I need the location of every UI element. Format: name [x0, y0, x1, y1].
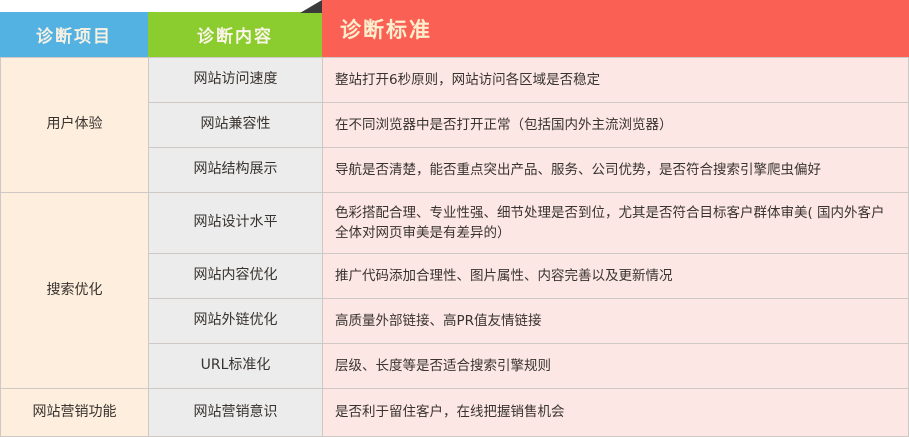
table-body: 用户体验 网站访问速度 整站打开6秒原则，网站访问各区域是否稳定 网站兼容性 在… [1, 58, 909, 437]
item-label: 网站营销意识 [149, 399, 322, 427]
item-cell: 网站结构展示 [149, 148, 323, 193]
standard-cell: 推广代码添加合理性、图片属性、内容完善以及更新情况 [323, 254, 909, 299]
item-cell: 网站设计水平 [149, 193, 323, 254]
header-label-diagnostic-standard: 诊断标准 [340, 14, 432, 44]
header-label-diagnostic-content: 诊断内容 [197, 22, 273, 47]
standard-text: 导航是否清楚，能否重点突出产品、服务、公司优势，是否符合搜索引擎爬虫偏好 [323, 154, 908, 186]
item-cell: 网站内容优化 [149, 254, 323, 299]
standard-cell: 层级、长度等是否适合搜索引擎规则 [323, 344, 909, 389]
header-cell-diagnostic-standard: 诊断标准 [322, 0, 909, 57]
header-label-diagnostic-item: 诊断项目 [36, 22, 112, 47]
group-cell-marketing-function: 网站营销功能 [1, 389, 149, 437]
item-cell: URL标准化 [149, 344, 323, 389]
table-row: 搜索优化 网站设计水平 色彩搭配合理、专业性强、细节处理是否到位，尤其是否符合目… [1, 193, 909, 254]
criteria-table-body: 用户体验 网站访问速度 整站打开6秒原则，网站访问各区域是否稳定 网站兼容性 在… [0, 57, 909, 437]
table-row: 用户体验 网站访问速度 整站打开6秒原则，网站访问各区域是否稳定 [1, 58, 909, 103]
standard-text: 色彩搭配合理、专业性强、细节处理是否到位，尤其是否符合目标客户群体审美( 国内外… [323, 197, 908, 250]
standard-cell: 导航是否清楚，能否重点突出产品、服务、公司优势，是否符合搜索引擎爬虫偏好 [323, 148, 909, 193]
standard-cell: 色彩搭配合理、专业性强、细节处理是否到位，尤其是否符合目标客户群体审美( 国内外… [323, 193, 909, 254]
item-label: 网站访问速度 [149, 66, 322, 94]
standard-cell: 高质量外部链接、高PR值友情链接 [323, 299, 909, 344]
group-cell-search-optimization: 搜索优化 [1, 193, 149, 389]
item-label: 网站兼容性 [149, 111, 322, 139]
header-cell-diagnostic-item: 诊断项目 [0, 12, 148, 57]
standard-text: 是否利于留住客户，在线把握销售机会 [323, 396, 908, 428]
standard-text: 高质量外部链接、高PR值友情链接 [323, 305, 908, 337]
group-label: 搜索优化 [1, 277, 148, 305]
item-label: URL标准化 [149, 352, 322, 380]
standard-cell: 在不同浏览器中是否打开正常（包括国内外主流浏览器） [323, 103, 909, 148]
standard-text: 在不同浏览器中是否打开正常（包括国内外主流浏览器） [323, 109, 908, 141]
table-header-row: 诊断项目 诊断内容 诊断标准 [0, 0, 909, 57]
group-label: 用户体验 [1, 111, 148, 139]
item-label: 网站内容优化 [149, 262, 322, 290]
item-label: 网站结构展示 [149, 156, 322, 184]
item-label: 网站外链优化 [149, 307, 322, 335]
item-cell: 网站外链优化 [149, 299, 323, 344]
item-cell: 网站营销意识 [149, 389, 323, 437]
standard-text: 层级、长度等是否适合搜索引擎规则 [323, 350, 908, 382]
diagnostic-criteria-table: 诊断项目 诊断内容 诊断标准 用户体验 网站访问速度 整站打开6秒原则，网站访问… [0, 0, 909, 418]
item-label: 网站设计水平 [149, 209, 322, 237]
standard-text: 整站打开6秒原则，网站访问各区域是否稳定 [323, 64, 908, 96]
item-cell: 网站兼容性 [149, 103, 323, 148]
header-cell-diagnostic-content: 诊断内容 [148, 12, 322, 57]
standard-text: 推广代码添加合理性、图片属性、内容完善以及更新情况 [323, 260, 908, 292]
table-row: 网站营销功能 网站营销意识 是否利于留住客户，在线把握销售机会 [1, 389, 909, 437]
group-label: 网站营销功能 [1, 399, 148, 427]
standard-cell: 是否利于留住客户，在线把握销售机会 [323, 389, 909, 437]
standard-cell: 整站打开6秒原则，网站访问各区域是否稳定 [323, 58, 909, 103]
item-cell: 网站访问速度 [149, 58, 323, 103]
group-cell-user-experience: 用户体验 [1, 58, 149, 193]
